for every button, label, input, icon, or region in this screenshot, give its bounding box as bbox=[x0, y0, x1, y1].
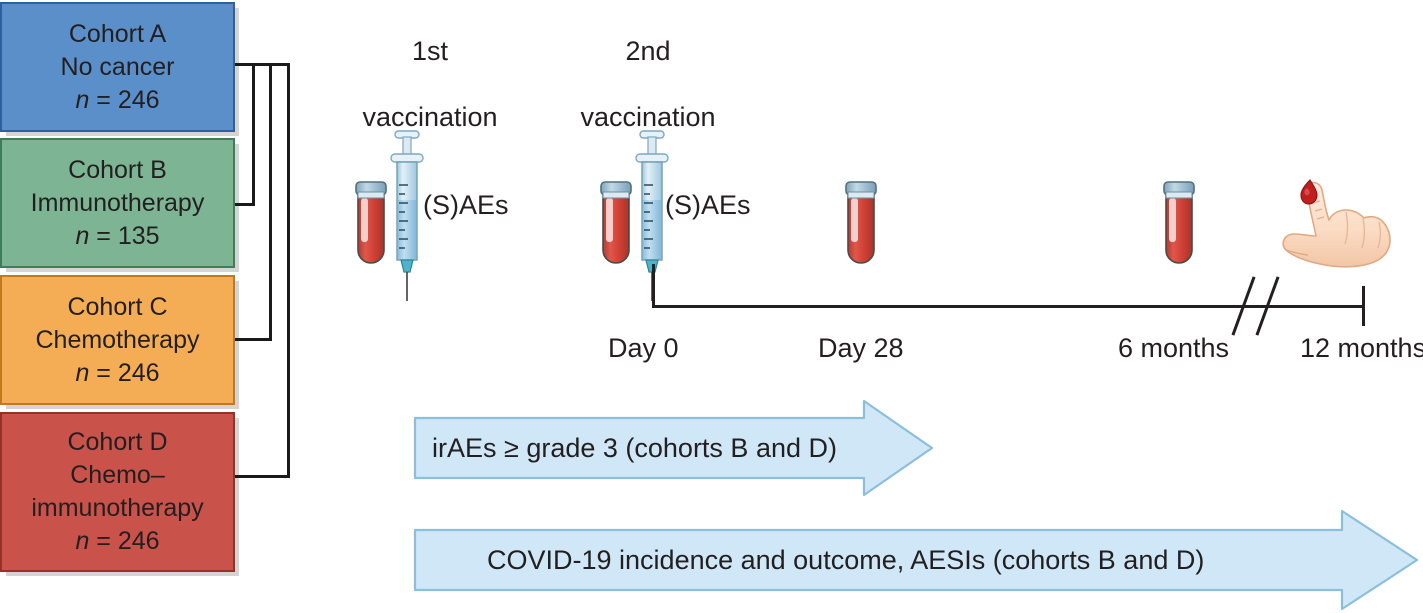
bracket-c-bottom bbox=[235, 338, 272, 341]
cohort-d-n: n = 246 bbox=[75, 525, 159, 558]
vaccination-label-1: 1st vaccination bbox=[330, 2, 530, 167]
banner-text-iraes: irAEs ≥ grade 3 (cohorts B and D) bbox=[432, 433, 837, 464]
timeline-tick-12months bbox=[1362, 286, 1365, 326]
bracket-d-bottom bbox=[235, 475, 290, 478]
cohort-a-n: n = 246 bbox=[75, 84, 159, 117]
cohort-c-n: n = 246 bbox=[75, 357, 159, 390]
timepoint-label-day28: Day 28 bbox=[818, 333, 904, 364]
cohort-box-a[interactable]: Cohort A No cancer n = 246 bbox=[0, 2, 235, 132]
timeline-axis bbox=[652, 305, 1364, 308]
sae-label-1: (S)AEs bbox=[423, 190, 509, 221]
cohort-box-b[interactable]: Cohort B Immunotherapy n = 135 bbox=[0, 138, 235, 268]
finger-prick-icon bbox=[1268, 178, 1408, 278]
figure-canvas: Cohort A No cancer n = 246 Cohort B Immu… bbox=[0, 0, 1423, 613]
vaccination-1-line2: vaccination bbox=[330, 101, 530, 134]
timepoint-label-12months: 12 months bbox=[1300, 333, 1423, 364]
bracket-d-top bbox=[235, 63, 290, 66]
cohort-d-treatment-line1: Chemo– bbox=[70, 459, 165, 492]
bracket-d-right bbox=[287, 63, 290, 478]
bracket-ab-right bbox=[252, 63, 255, 206]
cohort-d-treatment-line2: immunotherapy bbox=[31, 492, 203, 525]
cohort-box-c[interactable]: Cohort C Chemotherapy n = 246 bbox=[0, 275, 235, 405]
cohort-d-name: Cohort D bbox=[67, 426, 167, 459]
sae-label-2: (S)AEs bbox=[665, 190, 751, 221]
cohort-b-name: Cohort B bbox=[68, 154, 167, 187]
blood-tube-icon-3 bbox=[840, 172, 888, 272]
banner-text-covid: COVID-19 incidence and outcome, AESIs (c… bbox=[487, 545, 1204, 576]
blood-tube-icon-4 bbox=[1158, 172, 1206, 272]
cohort-b-treatment: Immunotherapy bbox=[31, 187, 205, 220]
bracket-ab-bottom bbox=[235, 203, 255, 206]
cohort-b-n: n = 135 bbox=[75, 220, 159, 253]
cohort-a-treatment: No cancer bbox=[61, 51, 175, 84]
vaccination-1-line1: 1st bbox=[330, 35, 530, 68]
timepoint-label-6months: 6 months bbox=[1118, 333, 1229, 364]
bracket-c-right bbox=[269, 63, 272, 341]
cohort-a-name: Cohort A bbox=[69, 18, 166, 51]
cohort-box-d[interactable]: Cohort D Chemo– immunotherapy n = 246 bbox=[0, 412, 235, 572]
cohort-c-treatment: Chemotherapy bbox=[36, 324, 200, 357]
timeline-tick-day0 bbox=[652, 264, 655, 308]
timepoint-label-day0: Day 0 bbox=[608, 333, 679, 364]
vaccination-2-line1: 2nd bbox=[548, 35, 748, 68]
cohort-c-name: Cohort C bbox=[67, 291, 167, 324]
